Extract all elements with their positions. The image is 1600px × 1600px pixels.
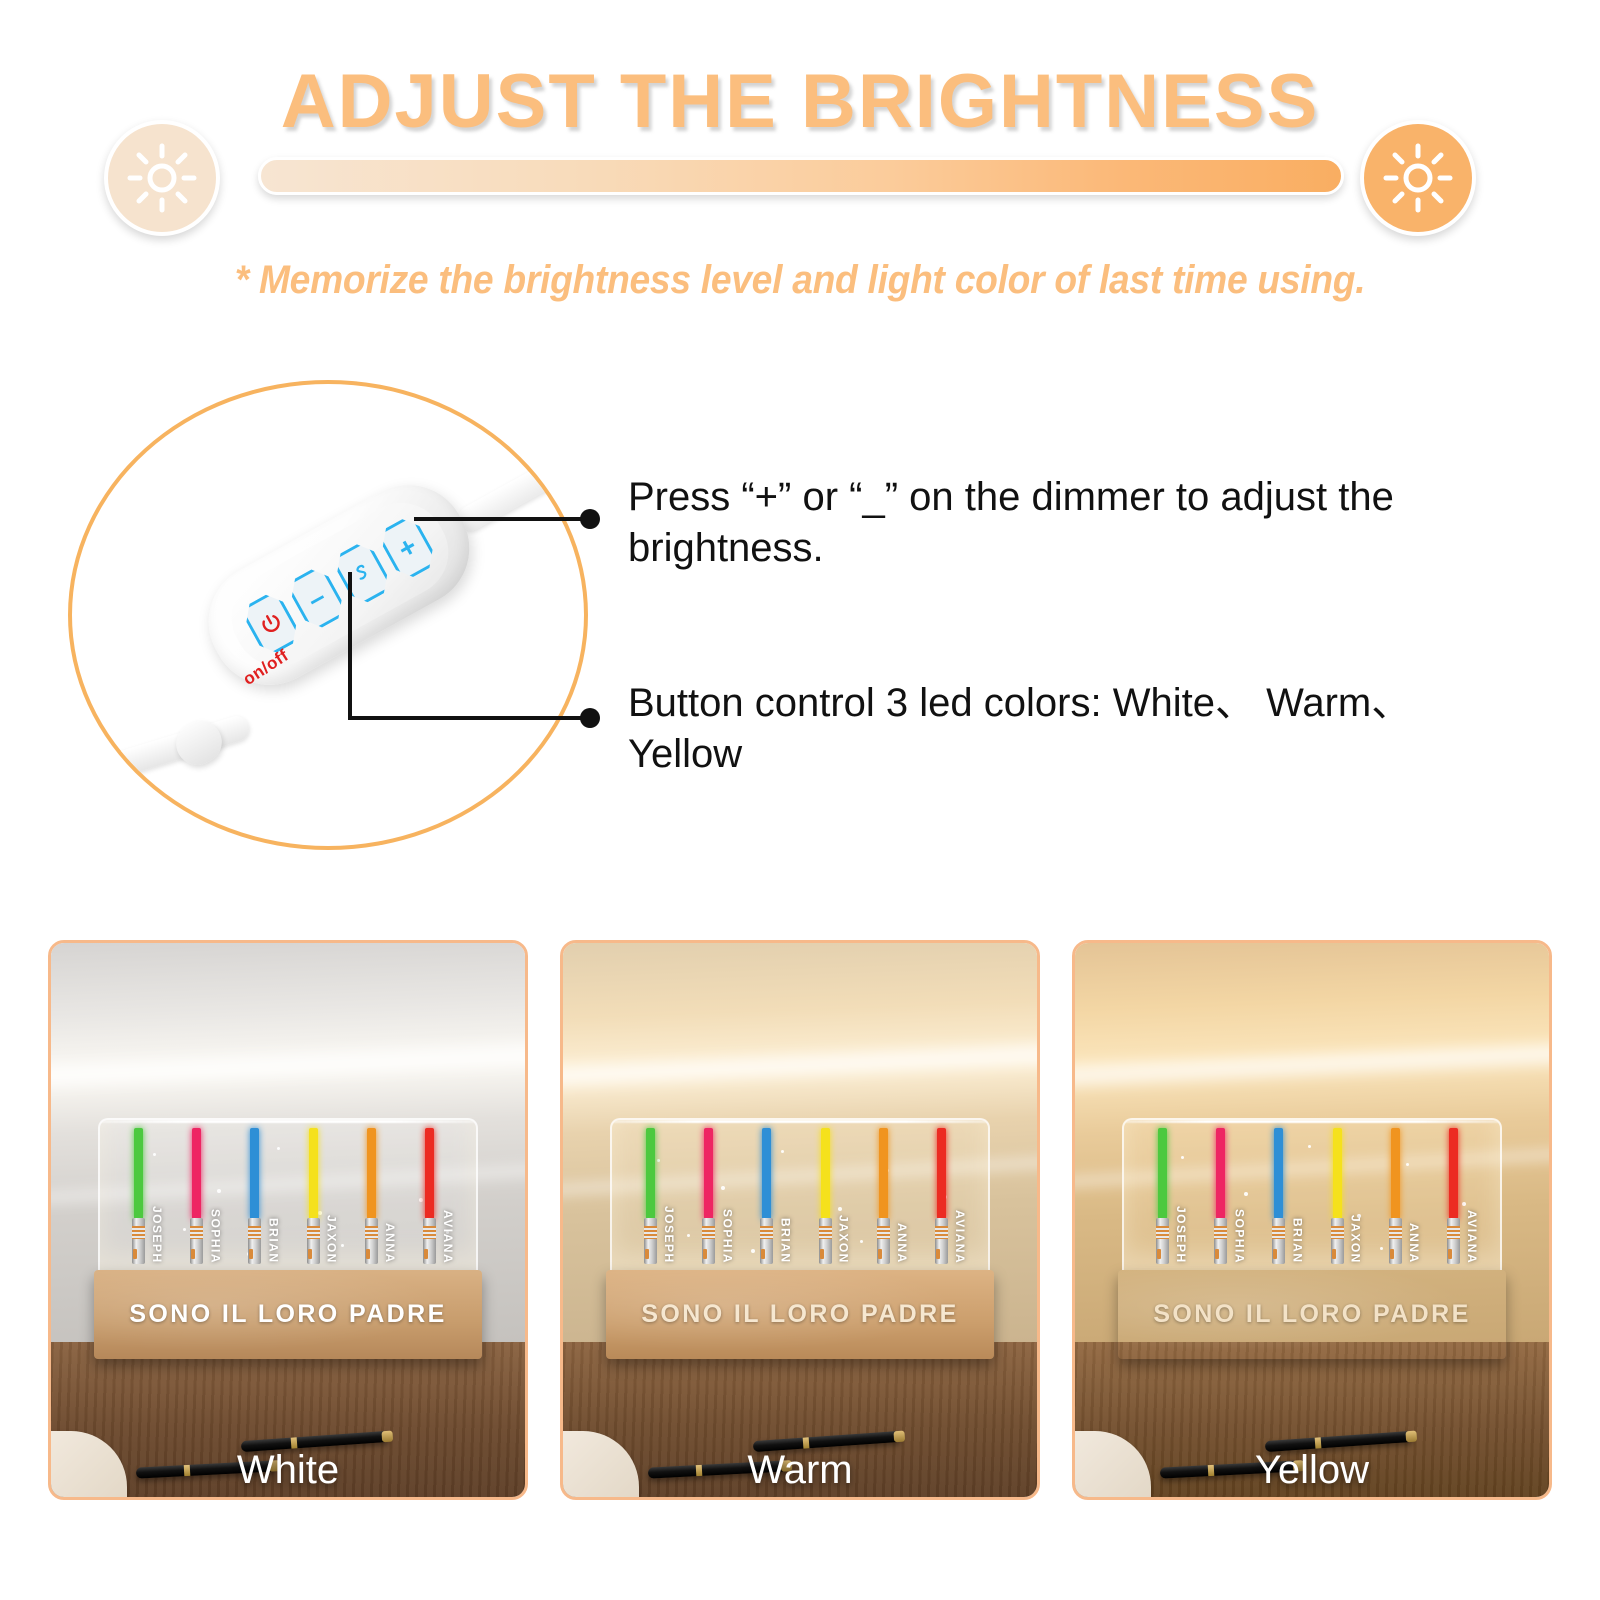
saber-name: BRIAN bbox=[1290, 1218, 1304, 1264]
saber-blade bbox=[879, 1128, 888, 1220]
saber-blade bbox=[1449, 1128, 1458, 1220]
saber-blade bbox=[192, 1128, 201, 1220]
callout-2-line-vertical bbox=[348, 572, 352, 720]
saber-blade bbox=[1274, 1128, 1283, 1220]
saber-blade bbox=[1391, 1128, 1400, 1220]
saber-blade bbox=[134, 1128, 143, 1220]
saber-hilt bbox=[760, 1218, 773, 1264]
dimmer-switch-photo: – + on/off bbox=[72, 384, 588, 850]
callout-text-led-colors: Button control 3 led colors: White、 Warm… bbox=[628, 678, 1508, 780]
saber-blade bbox=[704, 1128, 713, 1220]
saber-name: AVIANA bbox=[953, 1210, 967, 1264]
saber-blade bbox=[1216, 1128, 1225, 1220]
product-panel-yellow[interactable]: JOSEPH SOPHIA BRIAN JAXON ANNA bbox=[1072, 940, 1552, 1500]
saber-name: AVIANA bbox=[441, 1210, 455, 1264]
saber-name: ANNA bbox=[1407, 1223, 1421, 1264]
panel-label-white: White bbox=[51, 1448, 525, 1493]
acrylic-plate: JOSEPH SOPHIA BRIAN JAXON ANNA bbox=[98, 1118, 477, 1270]
dimmer-photo-circle: – + on/off bbox=[68, 380, 588, 850]
saber-name: ANNA bbox=[383, 1223, 397, 1264]
saber-blade bbox=[309, 1128, 318, 1220]
panel-label-yellow: Yellow bbox=[1075, 1448, 1549, 1493]
saber-name: JOSEPH bbox=[150, 1206, 164, 1264]
saber-name: JAXON bbox=[325, 1215, 339, 1264]
base-engraving-text: SONO IL LORO PADRE bbox=[1153, 1300, 1470, 1329]
header-section: ADJUST THE BRIGHTNESS bbox=[0, 0, 1600, 320]
memorize-note: * Memorize the brightness level and ligh… bbox=[56, 258, 1544, 303]
saber-hilt bbox=[423, 1218, 436, 1264]
brightness-slider[interactable] bbox=[258, 157, 1344, 195]
saber-hilt bbox=[132, 1218, 145, 1264]
saber-hilt bbox=[877, 1218, 890, 1264]
sun-bright-icon bbox=[1360, 120, 1476, 236]
dimmer-section: – + on/off Press “+” or “_” on the d bbox=[0, 360, 1600, 880]
saber-hilt bbox=[190, 1218, 203, 1264]
sun-dim-icon bbox=[104, 120, 220, 236]
saber-blade bbox=[250, 1128, 259, 1220]
saber-hilt bbox=[248, 1218, 261, 1264]
saber-blade bbox=[762, 1128, 771, 1220]
saber-hilt bbox=[1156, 1218, 1169, 1264]
onoff-label: on/off bbox=[240, 646, 293, 690]
saber-hilt bbox=[702, 1218, 715, 1264]
saber-blade bbox=[367, 1128, 376, 1220]
minus-icon: – bbox=[303, 582, 330, 614]
saber-name: ANNA bbox=[895, 1223, 909, 1264]
product-panel-white[interactable]: JOSEPH SOPHIA BRIAN JAXON ANNA bbox=[48, 940, 528, 1500]
saber-hilt bbox=[365, 1218, 378, 1264]
callout-1-dot bbox=[580, 509, 600, 529]
saber-hilt bbox=[644, 1218, 657, 1264]
saber-hilt bbox=[1214, 1218, 1227, 1264]
lamp-wooden-base: SONO IL LORO PADRE bbox=[606, 1270, 995, 1359]
saber-name: AVIANA bbox=[1465, 1210, 1479, 1264]
saber-hilt bbox=[1272, 1218, 1285, 1264]
lamp-wooden-base: SONO IL LORO PADRE bbox=[94, 1270, 483, 1359]
panel-label-warm: Warm bbox=[563, 1448, 1037, 1493]
saber-name: JOSEPH bbox=[1174, 1206, 1188, 1264]
page-title: ADJUST THE BRIGHTNESS bbox=[0, 58, 1600, 145]
saber-name: SOPHIA bbox=[720, 1209, 734, 1264]
saber-name: SOPHIA bbox=[1232, 1209, 1246, 1264]
plus-icon: + bbox=[394, 532, 422, 564]
saber-blade bbox=[425, 1128, 434, 1220]
saber-name: JOSEPH bbox=[662, 1206, 676, 1264]
callout-2-dot bbox=[580, 708, 600, 728]
saber-blade bbox=[1333, 1128, 1342, 1220]
saber-hilt bbox=[819, 1218, 832, 1264]
saber-name: BRIAN bbox=[266, 1218, 280, 1264]
base-engraving-text: SONO IL LORO PADRE bbox=[129, 1300, 446, 1329]
acrylic-plate: JOSEPH SOPHIA BRIAN JAXON ANNA bbox=[610, 1118, 989, 1270]
saber-hilt bbox=[1389, 1218, 1402, 1264]
callout-text-brightness: Press “+” or “_” on the dimmer to adjust… bbox=[628, 472, 1508, 574]
saber-blade bbox=[646, 1128, 655, 1220]
lamp-wooden-base: SONO IL LORO PADRE bbox=[1118, 1270, 1507, 1359]
saber-blade bbox=[1158, 1128, 1167, 1220]
saber-hilt bbox=[1331, 1218, 1344, 1264]
saber-name: JAXON bbox=[837, 1215, 851, 1264]
saber-name: JAXON bbox=[1349, 1215, 1363, 1264]
callout-1-line bbox=[414, 517, 590, 521]
saber-blade bbox=[937, 1128, 946, 1220]
power-icon bbox=[256, 609, 286, 639]
acrylic-plate: JOSEPH SOPHIA BRIAN JAXON ANNA bbox=[1122, 1118, 1501, 1270]
saber-blade bbox=[821, 1128, 830, 1220]
product-panel-warm[interactable]: JOSEPH SOPHIA BRIAN JAXON ANNA bbox=[560, 940, 1040, 1500]
saber-name: SOPHIA bbox=[208, 1209, 222, 1264]
saber-hilt bbox=[1447, 1218, 1460, 1264]
saber-hilt bbox=[307, 1218, 320, 1264]
saber-name: BRIAN bbox=[778, 1218, 792, 1264]
saber-hilt bbox=[935, 1218, 948, 1264]
dimmer-switch-body: – + on/off bbox=[188, 464, 490, 705]
base-engraving-text: SONO IL LORO PADRE bbox=[641, 1300, 958, 1329]
callout-2-line-horizontal bbox=[348, 716, 590, 720]
cable-upper bbox=[454, 450, 580, 535]
cable-lower bbox=[92, 713, 252, 784]
